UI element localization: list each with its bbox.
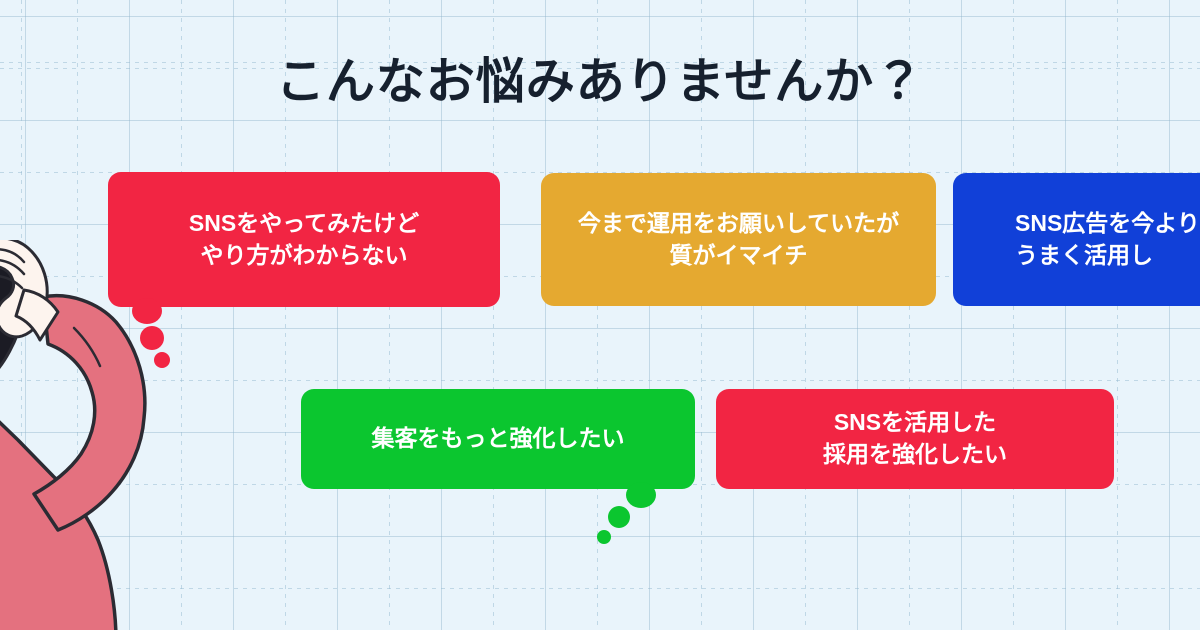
- hair-shape: [0, 240, 27, 397]
- finger-line: [0, 276, 22, 288]
- thought-tail-dot-medium: [608, 506, 630, 528]
- arm-sleeve: [34, 296, 145, 530]
- speech-bubble-sns-no-knowhow: SNSをやってみたけど やり方がわからない: [108, 172, 500, 307]
- speech-bubble-poor-quality: 今まで運用をお願いしていたが 質がイマイチ: [541, 173, 936, 306]
- speech-bubble-text: 今まで運用をお願いしていたが 質がイマイチ: [578, 208, 899, 271]
- hand-shape: [0, 240, 47, 337]
- thought-tail-dot-small: [154, 352, 170, 368]
- finger-line: [0, 260, 24, 274]
- slide-canvas: こんなお悩みありませんか？ SNSをやってみたけど やり方がわからない 今まで運…: [0, 0, 1200, 630]
- sleeve-crease: [74, 328, 100, 366]
- speech-bubble-text: SNSを活用した 採用を強化したい: [823, 407, 1007, 470]
- speech-bubble-text: 集客をもっと強化したい: [372, 423, 625, 455]
- thought-tail-dot-small: [597, 530, 611, 544]
- thought-tail-dot-large: [626, 482, 656, 508]
- torso-shape: [0, 390, 116, 630]
- finger-line: [0, 249, 24, 262]
- speech-bubble-text: SNSをやってみたけど やり方がわからない: [189, 208, 419, 271]
- page-title: こんなお悩みありませんか？: [0, 42, 1200, 113]
- speech-bubble-recruiting: SNSを活用した 採用を強化したい: [716, 389, 1114, 489]
- thought-tail-dot-large: [132, 298, 162, 324]
- speech-bubble-sns-ads: SNS広告を今より うまく活用し: [953, 173, 1200, 306]
- speech-bubble-text: SNS広告を今より うまく活用し: [1015, 208, 1200, 271]
- speech-bubble-more-customers: 集客をもっと強化したい: [301, 389, 695, 489]
- wrist-shape: [16, 290, 58, 340]
- thought-tail-dot-medium: [140, 326, 164, 350]
